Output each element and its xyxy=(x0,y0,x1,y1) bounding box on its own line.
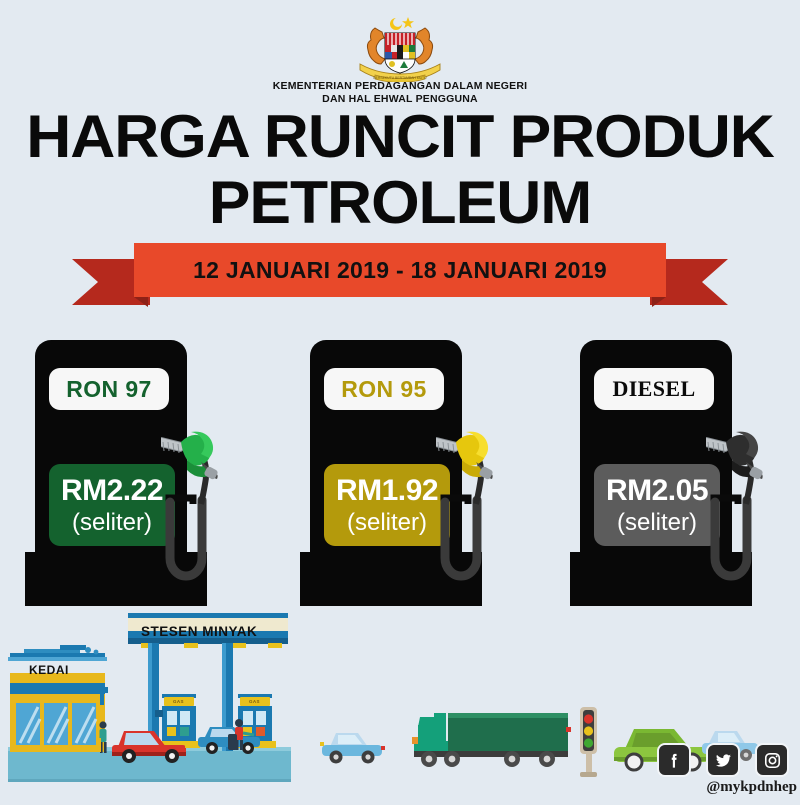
price-unit: (seliter) xyxy=(617,511,697,535)
fuel-pump-diesel: DIESEL RM2.05 (seliter) xyxy=(580,340,775,606)
price-unit: (seliter) xyxy=(347,511,427,535)
fuel-nozzle-yellow-icon xyxy=(436,426,506,586)
fuel-nozzle-black-icon xyxy=(706,426,776,586)
infographic-canvas: BERSEKUTU BERTAMBAH MUTU KEMENTERIAN PER… xyxy=(0,0,800,800)
social-handle: @mykpdnhep xyxy=(657,779,797,796)
title-line-2: PETROLEUM xyxy=(0,170,800,236)
ribbon-band: 12 JANUARI 2019 - 18 JANUARI 2019 xyxy=(134,243,666,297)
fuel-type-text: RON 97 xyxy=(66,376,151,403)
fuel-type-label-ron97: RON 97 xyxy=(49,368,169,410)
twitter-icon[interactable] xyxy=(706,743,740,777)
facebook-icon[interactable] xyxy=(657,743,691,777)
fuel-type-label-diesel: DIESEL xyxy=(594,368,714,410)
shop-sign-text: KEDAI xyxy=(29,663,69,677)
price-amount: RM2.05 xyxy=(606,476,708,506)
price-box-ron97: RM2.22 (seliter) xyxy=(49,464,175,546)
date-range-text: 12 JANUARI 2019 - 18 JANUARI 2019 xyxy=(193,257,607,284)
fuel-type-label-ron95: RON 95 xyxy=(324,368,444,410)
ministry-line-1: KEMENTERIAN PERDAGANGAN DALAM NEGERI xyxy=(0,80,800,93)
price-box-ron95: RM1.92 (seliter) xyxy=(324,464,450,546)
social-media-block: @mykpdnhep xyxy=(657,743,797,795)
fuel-pump-ron97: RON 97 RM2.22 (seliter) xyxy=(35,340,230,606)
price-amount: RM1.92 xyxy=(336,476,438,506)
dispenser-label-2: GAS xyxy=(249,699,260,704)
instagram-icon[interactable] xyxy=(755,743,789,777)
title-line-1: HARGA RUNCIT PRODUK xyxy=(0,104,800,170)
ministry-name: KEMENTERIAN PERDAGANGAN DALAM NEGERI DAN… xyxy=(0,80,800,105)
date-ribbon: 12 JANUARI 2019 - 18 JANUARI 2019 xyxy=(72,243,728,305)
station-sign-text: STESEN MINYAK xyxy=(141,624,257,639)
fuel-type-text: DIESEL xyxy=(612,376,695,402)
price-unit: (seliter) xyxy=(72,511,152,535)
malaysia-coat-of-arms-icon: BERSEKUTU BERTAMBAH MUTU xyxy=(342,12,458,82)
fuel-type-text: RON 95 xyxy=(341,376,426,403)
fuel-pump-ron95: RON 95 RM1.92 (seliter) xyxy=(310,340,505,606)
page-title: HARGA RUNCIT PRODUK PETROLEUM xyxy=(0,104,800,236)
fuel-nozzle-green-icon xyxy=(161,426,231,586)
price-box-diesel: RM2.05 (seliter) xyxy=(594,464,720,546)
dispenser-label-1: GAS xyxy=(173,699,184,704)
price-amount: RM2.22 xyxy=(61,476,163,506)
